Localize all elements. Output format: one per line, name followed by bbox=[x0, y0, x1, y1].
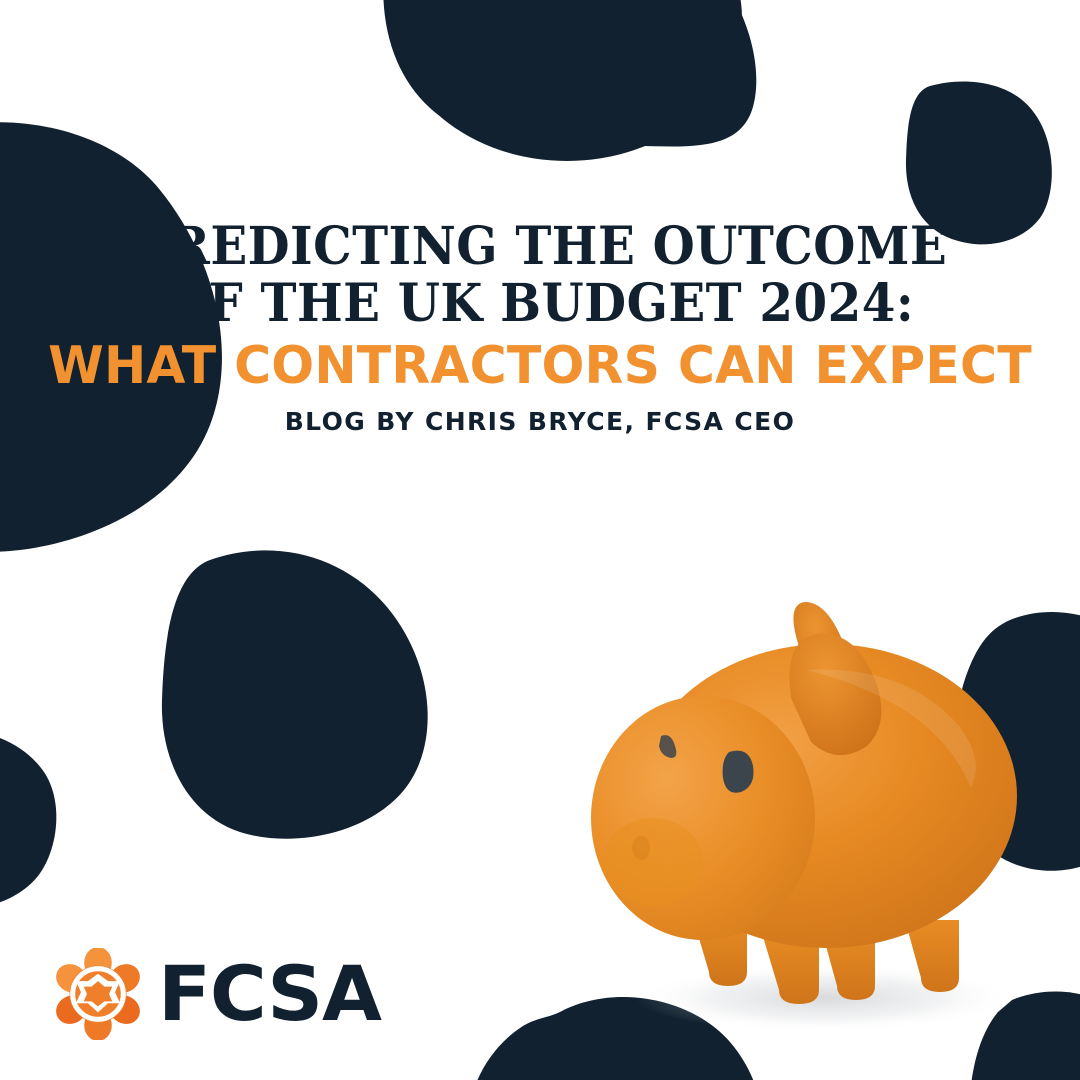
piggy-eye bbox=[723, 751, 754, 793]
blob-top-center bbox=[383, 0, 756, 147]
headline-line-2: OF THE UK BUDGET 2024: bbox=[38, 275, 1042, 332]
social-card-canvas: PREDICTING THE OUTCOME OF THE UK BUDGET … bbox=[0, 0, 1080, 1080]
blob-left-edge bbox=[0, 729, 56, 909]
fcsa-logo[interactable]: FCSA bbox=[52, 948, 377, 1040]
blob-mid-left bbox=[162, 550, 428, 838]
piggy-head bbox=[591, 696, 815, 940]
fcsa-wordmark: FCSA bbox=[158, 956, 381, 1032]
byline: BLOG BY CHRIS BRYCE, FCSA CEO bbox=[0, 407, 1080, 436]
headline-line-3-accent: WHAT CONTRACTORS CAN EXPECT bbox=[16, 338, 1064, 395]
headline-block: PREDICTING THE OUTCOME OF THE UK BUDGET … bbox=[0, 218, 1080, 436]
blob-top-center-body bbox=[392, 0, 742, 161]
piggy-bank-illustration bbox=[575, 600, 1055, 1040]
piggy-snout bbox=[603, 818, 703, 906]
headline-line-1: PREDICTING THE OUTCOME bbox=[38, 218, 1042, 275]
piggy-nostril bbox=[632, 836, 650, 860]
fcsa-flower-star-icon bbox=[52, 948, 144, 1040]
